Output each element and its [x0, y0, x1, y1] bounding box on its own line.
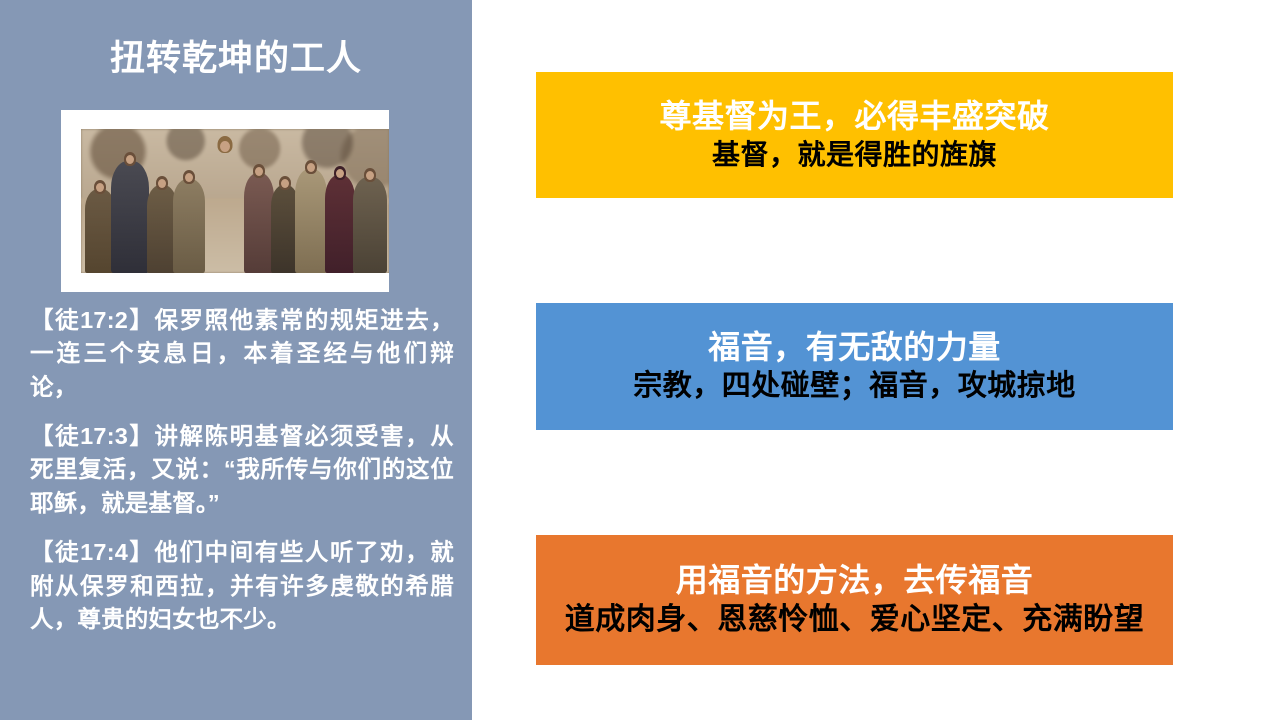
photo-figure-woman: [325, 175, 355, 273]
presentation-slide: 扭转乾坤的工人 【徒17:2】保罗照他素常的规矩进去，一连三个安息日，本着圣经与…: [0, 0, 1280, 720]
photo-figure-face: [336, 169, 344, 178]
photo-figure-face: [255, 167, 263, 176]
point-box-yellow: 尊基督为王，必得丰盛突破 基督，就是得胜的旌旗: [536, 72, 1173, 198]
scripture-verse: 【徒17:4】他们中间有些人听了劝，就附从保罗和西拉，并有许多虔敬的希腊人，尊贵…: [30, 536, 454, 636]
point-box-orange: 用福音的方法，去传福音 道成肉身、恩慈怜恤、爱心坚定、充满盼望: [536, 535, 1173, 665]
photo-figure-face: [185, 173, 193, 182]
photo-figure-face: [281, 179, 289, 188]
point-box-blue: 福音，有无敌的力量 宗教，四处碰壁；福音，攻城掠地: [536, 303, 1173, 430]
photo-figure-face: [307, 163, 315, 172]
scripture-text-block: 【徒17:2】保罗照他素常的规矩进去，一连三个安息日，本着圣经与他们辩论， 【徒…: [30, 304, 454, 636]
photo-figure-face: [126, 155, 134, 164]
point-subheading: 宗教，四处碰壁；福音，攻城掠地: [633, 369, 1076, 404]
point-heading: 福音，有无敌的力量: [708, 328, 1001, 367]
photo-figure: [244, 173, 274, 273]
photo-figure: [295, 169, 327, 273]
photo-figure-face: [158, 179, 166, 188]
jesus-disciples-photo: [81, 129, 389, 273]
photo-figure-face: [96, 183, 104, 192]
photo-figure: [111, 161, 149, 273]
point-heading: 尊基督为王，必得丰盛突破: [659, 97, 1049, 136]
photo-figure: [353, 177, 387, 273]
point-heading: 用福音的方法，去传福音: [676, 561, 1034, 600]
page-title: 扭转乾坤的工人: [0, 38, 472, 80]
photo-figure-jesus: [203, 147, 247, 273]
photo-frame: [61, 110, 389, 292]
photo-figure-face: [366, 171, 374, 180]
point-subheading: 基督，就是得胜的旌旗: [712, 138, 997, 172]
scripture-verse: 【徒17:2】保罗照他素常的规矩进去，一连三个安息日，本着圣经与他们辩论，: [30, 304, 454, 404]
point-subheading: 道成肉身、恩慈怜恤、爱心坚定、充满盼望: [565, 602, 1145, 639]
sidebar-panel: 扭转乾坤的工人 【徒17:2】保罗照他素常的规矩进去，一连三个安息日，本着圣经与…: [0, 0, 472, 720]
photo-figure: [173, 179, 205, 273]
photo-figure-face: [220, 141, 230, 152]
scripture-verse: 【徒17:3】讲解陈明基督必须受害，从死里复活，又说：“我所传与你们的这位耶稣，…: [30, 420, 454, 520]
